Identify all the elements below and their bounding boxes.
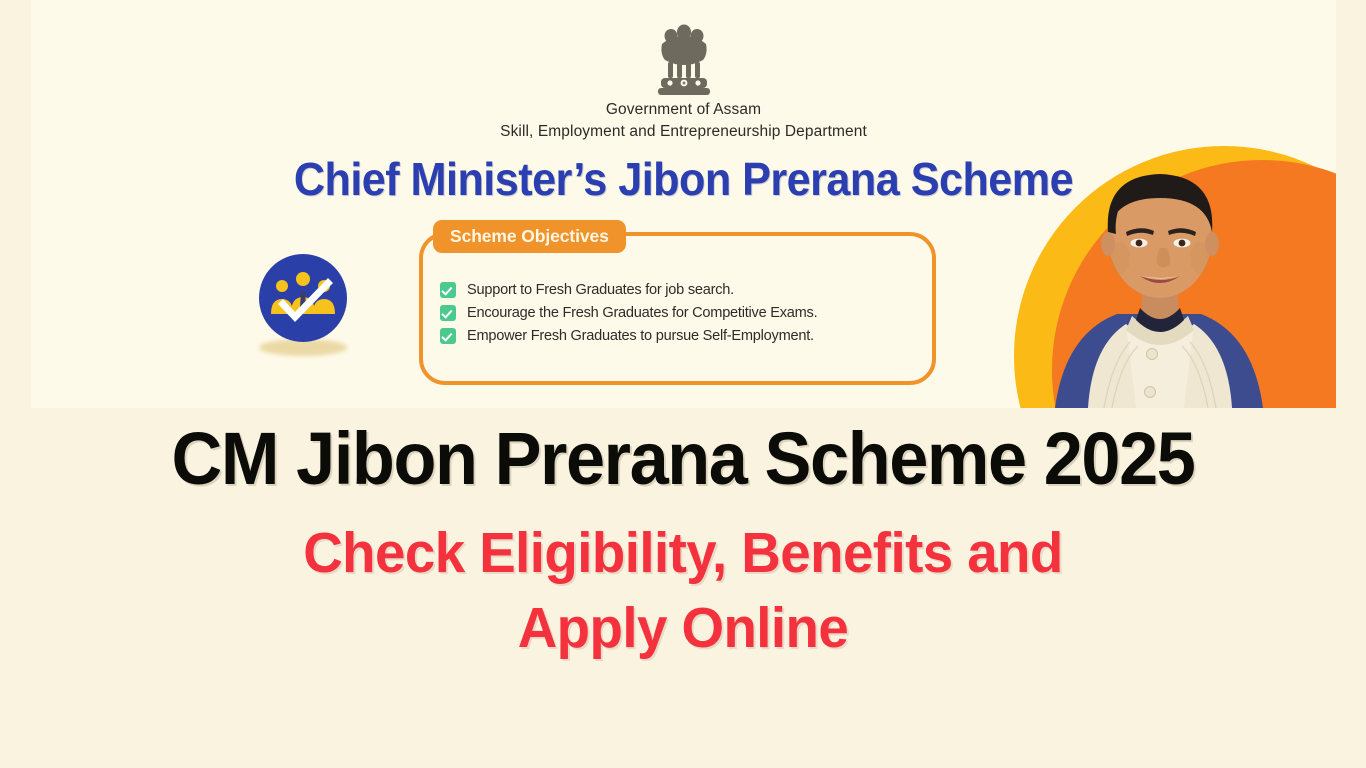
objective-label: Empower Fresh Graduates to pursue Self-E… — [467, 328, 814, 344]
page-headline: CM Jibon Prerana Scheme 2025 — [34, 418, 1332, 500]
scheme-logo-icon — [253, 252, 353, 360]
india-national-emblem-icon — [31, 22, 1336, 100]
check-icon — [440, 305, 456, 321]
objective-label: Encourage the Fresh Graduates for Compet… — [467, 305, 817, 321]
scheme-objectives-list: Support to Fresh Graduates for job searc… — [440, 279, 817, 348]
department-label: Skill, Employment and Entrepreneurship D… — [31, 123, 1336, 141]
page-subheadline: Check Eligibility, Benefits and Apply On… — [27, 516, 1338, 666]
page-root: { "page": { "background_color": "#FAF3DF… — [0, 0, 1366, 768]
objective-item: Support to Fresh Graduates for job searc… — [440, 279, 817, 301]
chief-minister-portrait-icon — [1000, 140, 1336, 408]
objective-item: Encourage the Fresh Graduates for Compet… — [440, 302, 817, 324]
subheadline-line-2: Apply Online — [27, 591, 1338, 666]
check-icon — [440, 328, 456, 344]
government-of-assam-label: Government of Assam — [31, 101, 1336, 119]
objective-label: Support to Fresh Graduates for job searc… — [467, 282, 734, 298]
objective-item: Empower Fresh Graduates to pursue Self-E… — [440, 325, 817, 347]
check-icon — [440, 282, 456, 298]
subheadline-line-1: Check Eligibility, Benefits and — [27, 516, 1338, 591]
scheme-objectives-tab: Scheme Objectives — [433, 220, 626, 253]
scheme-banner: Government of Assam Skill, Employment an… — [31, 0, 1336, 408]
